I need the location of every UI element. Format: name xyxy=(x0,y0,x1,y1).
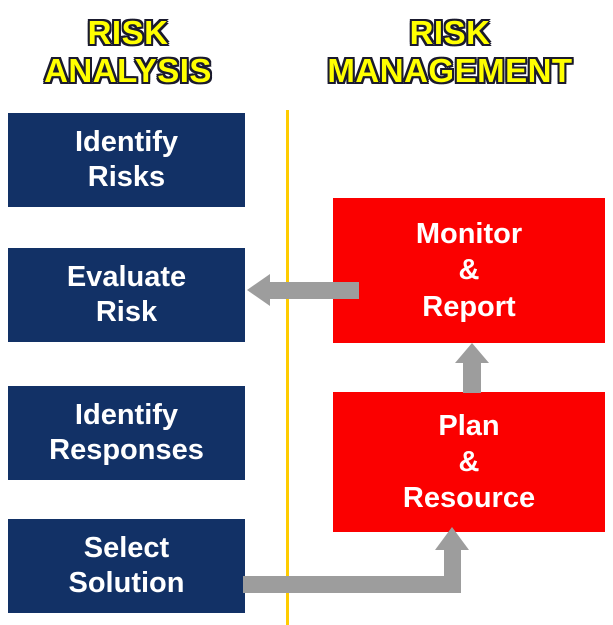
box-monitor-and-report: Monitor & Report xyxy=(333,198,605,343)
box-identify-risks: Identify Risks xyxy=(8,113,245,207)
arrow-shaft xyxy=(269,282,359,299)
box-identify-responses: Identify Responses xyxy=(8,386,245,480)
box-select-solution: Select Solution xyxy=(8,519,245,613)
arrow-head xyxy=(435,527,469,550)
arrow-elbow-icon-select-to-plan xyxy=(243,527,493,593)
arrow-head xyxy=(247,274,270,306)
arrow-up-icon-plan-to-monitor xyxy=(455,343,489,393)
arrow-head xyxy=(455,343,489,363)
heading-risk-analysis: RISK ANALYSIS xyxy=(8,14,248,90)
risk-process-diagram: RISK ANALYSIS RISK MANAGEMENT Identify R… xyxy=(0,0,613,625)
arrow-shaft-vertical xyxy=(444,549,461,593)
arrow-left-icon-monitor-to-evaluate xyxy=(247,282,362,299)
box-plan-and-resource: Plan & Resource xyxy=(333,392,605,532)
arrow-shaft xyxy=(463,361,481,393)
box-evaluate-risk: Evaluate Risk xyxy=(8,248,245,342)
heading-risk-management: RISK MANAGEMENT xyxy=(300,14,600,90)
arrow-shaft-horizontal xyxy=(243,576,461,593)
